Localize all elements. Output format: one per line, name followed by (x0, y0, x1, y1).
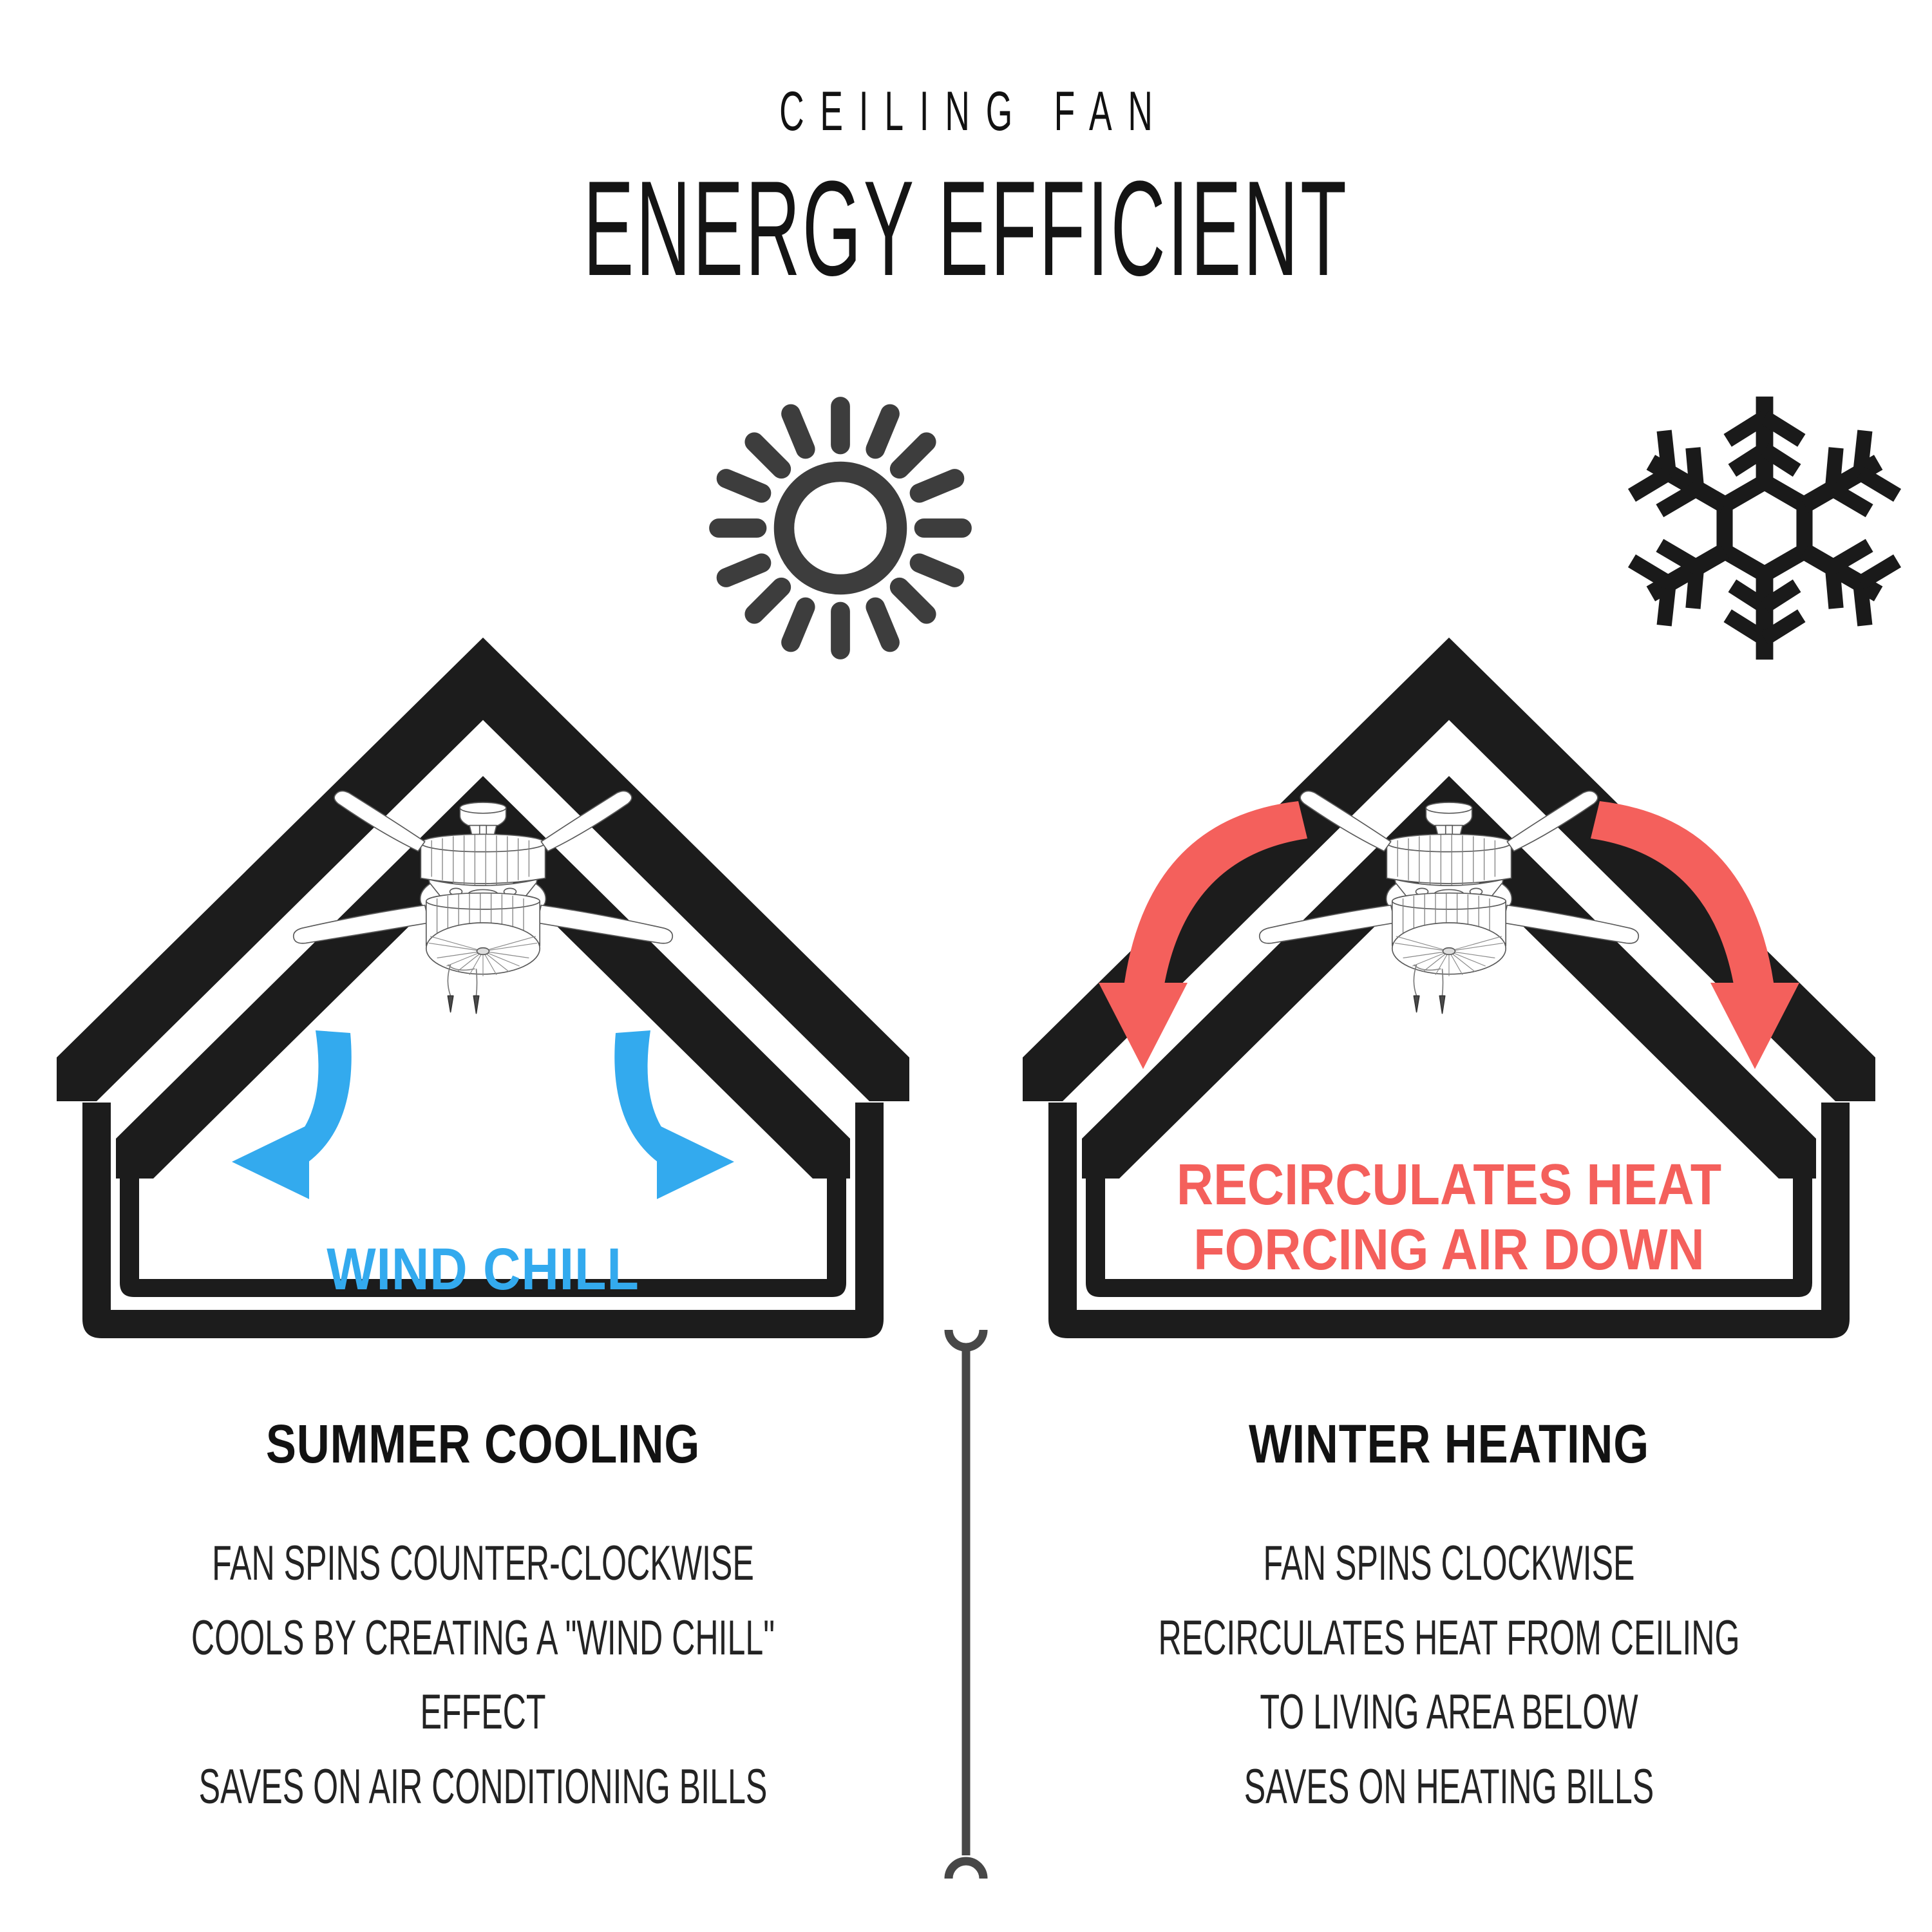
winter-panel-body: FAN SPINS CLOCKWISE RECIRCULATES HEAT FR… (1135, 1526, 1764, 1824)
divider-cup-top (949, 1330, 983, 1347)
winter-panel-title: WINTER HEATING (1048, 1417, 1849, 1471)
summer-panel-body: FAN SPINS COUNTER-CLOCKWISE COOLS BY CRE… (169, 1526, 798, 1824)
infographic-canvas: CEILING FAN ENERGY EFFICIENT (0, 0, 1932, 1932)
center-divider (937, 1323, 995, 1903)
airflow-arrows-summer (232, 1030, 734, 1199)
divider-arch-bottom (949, 1861, 983, 1879)
wall-outer (82, 1103, 884, 1338)
summer-panel-title: SUMMER COOLING (82, 1417, 883, 1471)
winter-panel: RECIRCULATES HEAT FORCING AIR DOWN WINTE… (972, 0, 1926, 1932)
summer-inside-label: WIND CHILL (64, 1236, 902, 1303)
summer-panel: WIND CHILL SUMMER COOLING FAN SPINS COUN… (6, 0, 960, 1932)
winter-inside-label: RECIRCULATES HEAT FORCING AIR DOWN (1030, 1153, 1868, 1283)
